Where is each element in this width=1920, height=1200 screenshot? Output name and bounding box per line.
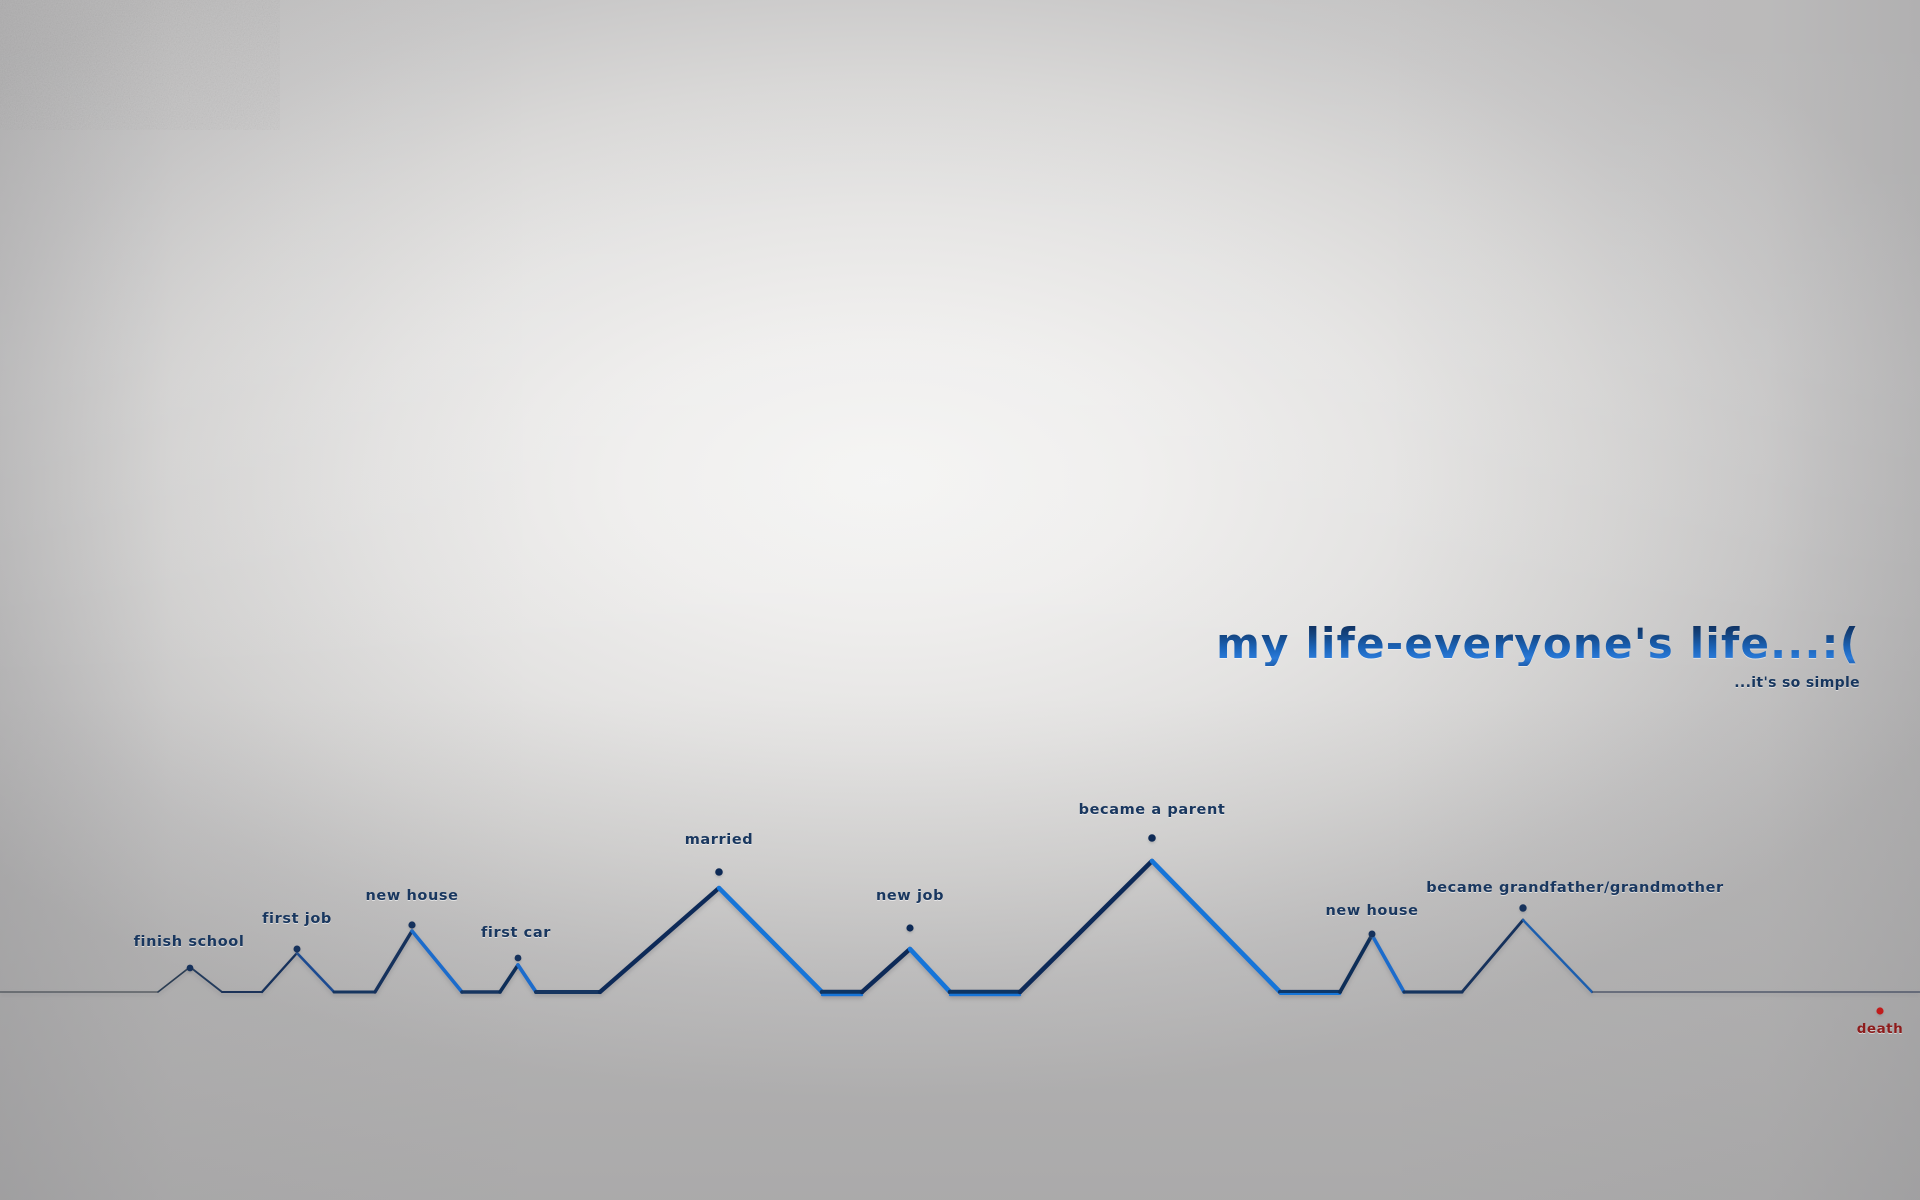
segment-up-finish-school	[158, 967, 190, 992]
event-label-married: married	[685, 832, 754, 848]
event-dot-became-grandparent	[1519, 904, 1526, 911]
event-dot-new-house-1	[408, 921, 415, 928]
event-dots-group	[187, 834, 1884, 1014]
event-label-became-a-parent: became a parent	[1079, 802, 1226, 818]
segment-down-first-car	[518, 965, 536, 992]
event-label-new-job: new job	[876, 888, 944, 904]
segment-down-finish-school	[190, 967, 222, 992]
segment-down-new-job	[910, 949, 950, 992]
segment-up-first-job	[262, 953, 297, 992]
event-label-first-car: first car	[481, 925, 551, 941]
wallpaper-canvas: finish school first job new house first …	[0, 0, 1920, 1200]
segment-down-became-a-parent	[1152, 861, 1280, 992]
segment-up-married	[600, 888, 719, 992]
event-label-death: death	[1857, 1021, 1904, 1037]
event-label-new-house-1: new house	[365, 888, 458, 904]
event-label-became-grandparent: became grandfather/grandmother	[1426, 880, 1724, 896]
page-subtitle: ...it's so simple	[1216, 675, 1860, 691]
event-dot-new-house-2	[1369, 931, 1376, 938]
event-dot-first-car	[515, 955, 522, 962]
segment-up-first-car	[500, 965, 518, 992]
event-label-new-house-2: new house	[1325, 903, 1418, 919]
segment-up-became-a-parent	[1020, 861, 1152, 992]
event-dot-became-a-parent	[1148, 834, 1156, 842]
segment-up-new-job	[862, 949, 910, 992]
segment-down-new-house-2	[1372, 935, 1404, 992]
segment-up-new-house-1	[375, 931, 412, 992]
segment-down-became-grandparent	[1523, 920, 1592, 992]
event-label-first-job: first job	[262, 911, 332, 927]
event-dot-new-job	[906, 924, 913, 931]
life-timeline-chart	[0, 0, 1920, 1200]
segment-down-first-job	[297, 953, 334, 992]
title-block: my life-everyone's life...:( ...it's so …	[1216, 622, 1860, 691]
segment-down-married	[719, 888, 822, 992]
event-dot-first-job	[294, 946, 301, 953]
event-dot-finish-school	[187, 965, 194, 972]
segment-up-new-house-2	[1340, 935, 1372, 992]
page-title: my life-everyone's life...:(	[1216, 622, 1860, 666]
event-dot-married	[715, 868, 723, 876]
segment-up-became-grandparent	[1462, 920, 1523, 992]
segment-down-new-house-1	[412, 931, 462, 992]
event-label-finish-school: finish school	[134, 934, 245, 950]
event-dot-death	[1876, 1007, 1883, 1014]
